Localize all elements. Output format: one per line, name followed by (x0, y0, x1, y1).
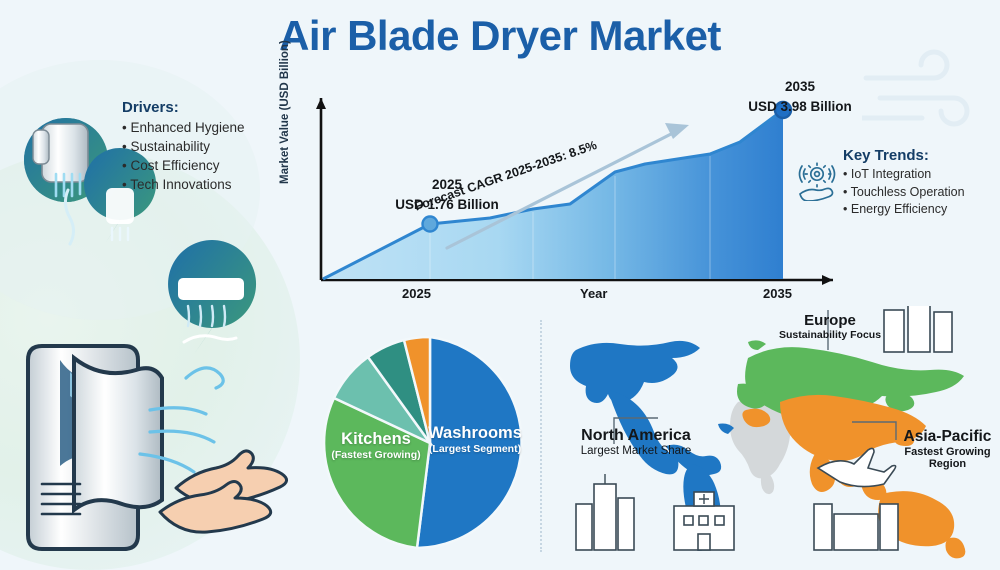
region-name: Europe (750, 312, 910, 329)
key-trends-list: IoT Integration Touchless Operation Ener… (843, 166, 965, 219)
map-label-asia-pacific: Asia-Pacific Fastest Growing Region (890, 428, 1000, 470)
drivers-heading: Drivers: (122, 99, 245, 116)
callout-value: USD 3.98 Billion (748, 99, 852, 114)
pie-label-sub: (Fastest Growing) (320, 449, 432, 461)
callout-year: 2035 (785, 79, 815, 94)
market-growth-chart: Market Value (USD Billion) (285, 80, 860, 310)
drivers-list: Enhanced Hygiene Sustainability Cost Eff… (122, 118, 245, 195)
y-axis-arrow (316, 98, 326, 109)
chart-x-axis-label: Year (580, 286, 607, 301)
drivers-item: Enhanced Hygiene (122, 118, 245, 137)
drivers-item: Cost Efficiency (122, 156, 245, 175)
segment-pie-chart: Washrooms (Largest Segment) Kitchens (Fa… (318, 332, 543, 554)
key-trends-heading: Key Trends: (843, 147, 965, 164)
pie-label-name: Kitchens (320, 430, 432, 449)
region-sub: Fastest Growing (890, 446, 1000, 458)
key-trends-item: Energy Efficiency (843, 201, 965, 219)
key-trends-item: IoT Integration (843, 166, 965, 184)
infographic-root: Air Blade Dryer Market (0, 0, 1000, 559)
x-axis-arrow (822, 275, 833, 285)
map-label-europe: Europe Sustainability Focus (750, 312, 910, 341)
pie-label-sub: (Largest Segment) (415, 443, 535, 455)
drivers-item: Tech Innovations (122, 175, 245, 194)
region-sub-2: Region (890, 458, 1000, 470)
pie-label-name: Washrooms (415, 424, 535, 443)
region-name: Asia-Pacific (890, 428, 1000, 446)
pie-label-kitchens: Kitchens (Fastest Growing) (320, 430, 432, 461)
region-sub: Largest Market Share (546, 445, 726, 457)
air-blower-hands-bubble-icon (168, 240, 256, 354)
drivers-block: Drivers: Enhanced Hygiene Sustainability… (122, 99, 245, 195)
key-trends-block: Key Trends: IoT Integration Touchless Op… (843, 147, 965, 219)
drivers-item: Sustainability (122, 137, 245, 156)
chart-xtick-end: 2035 (763, 286, 792, 301)
chart-callout-2035: 2035 USD 3.98 Billion (725, 77, 875, 117)
page-title: Air Blade Dryer Market (0, 12, 1000, 60)
jet-hand-dryer-with-hands-icon (28, 346, 287, 549)
key-trends-item: Touchless Operation (843, 184, 965, 202)
chart-y-axis-label: Market Value (USD Billion) (279, 40, 291, 184)
office-buildings-icon (576, 474, 634, 550)
pie-label-washrooms: Washrooms (Largest Segment) (415, 424, 535, 455)
chart-marker-2025 (423, 217, 438, 232)
map-label-north-america: North America Largest Market Share (546, 427, 726, 457)
region-name: North America (546, 427, 726, 445)
regional-world-map: Europe Sustainability Focus North Americ… (552, 306, 1000, 559)
chart-xtick-start: 2025 (402, 286, 431, 301)
hospital-icon (674, 492, 734, 550)
region-sub: Sustainability Focus (750, 329, 910, 341)
